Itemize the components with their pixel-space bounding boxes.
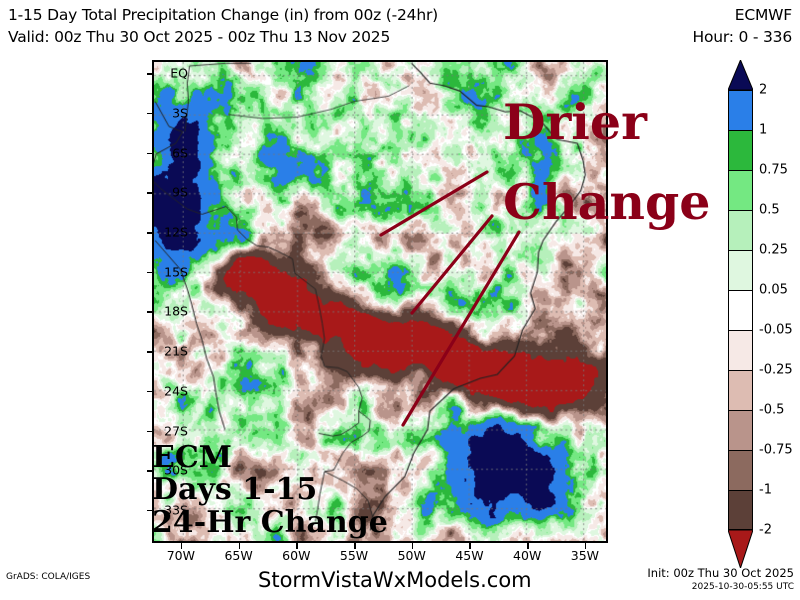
grads-credit: GrADS: COLA/IGES bbox=[6, 572, 90, 582]
x-axis-tick-mark bbox=[181, 543, 183, 549]
colorbar-tick-label: -0.75 bbox=[759, 443, 793, 458]
x-axis-tick-label: 60W bbox=[282, 548, 310, 563]
x-axis-tick-mark bbox=[354, 543, 356, 549]
colorbar-band bbox=[728, 370, 753, 410]
y-axis-tick-mark bbox=[147, 272, 152, 274]
colorbar-tick-label: -0.5 bbox=[759, 403, 784, 418]
colorbar-band bbox=[728, 90, 753, 130]
y-axis-tick-label: EQ bbox=[170, 66, 188, 81]
x-axis-tick-label: 70W bbox=[167, 548, 195, 563]
colorbar-tick-label: -2 bbox=[759, 523, 772, 538]
x-axis-tick-mark bbox=[469, 543, 471, 549]
x-axis-tick-label: 50W bbox=[398, 548, 426, 563]
site-watermark: StormVistaWxModels.com bbox=[258, 568, 532, 592]
colorbar-tick-label: -0.25 bbox=[759, 363, 793, 378]
y-axis-tick-mark bbox=[147, 153, 152, 155]
colorbar-tick-label: -1 bbox=[759, 483, 772, 498]
colorbar-tick-label: 0.75 bbox=[759, 163, 788, 178]
y-axis-tick-mark bbox=[147, 232, 152, 234]
map-header: 1-15 Day Total Precipitation Change (in)… bbox=[0, 0, 800, 52]
colorbar-top-cap bbox=[728, 60, 753, 90]
init-time-label: Init: 00z Thu 30 Oct 2025 bbox=[647, 566, 794, 580]
y-axis-tick-label: 12S bbox=[164, 225, 188, 240]
x-axis-tick-mark bbox=[585, 543, 587, 549]
annotation-model-ecm: ECM bbox=[152, 443, 232, 473]
annotation-days-range: Days 1-15 bbox=[152, 475, 317, 505]
forecast-hour-label: Hour: 0 - 336 bbox=[692, 28, 792, 46]
annotation-24hr-change: 24-Hr Change bbox=[152, 508, 388, 538]
model-name-label: ECMWF bbox=[735, 6, 792, 24]
x-axis-tick-label: 45W bbox=[455, 548, 483, 563]
colorbar-tick-label: 0.25 bbox=[759, 243, 788, 258]
y-axis-tick-label: 3S bbox=[172, 105, 188, 120]
y-axis-tick-label: 15S bbox=[164, 264, 188, 279]
y-axis-tick-label: 21S bbox=[164, 344, 188, 359]
y-axis-tick-label: 9S bbox=[172, 185, 188, 200]
colorbar-band bbox=[728, 450, 753, 490]
annotation-change: Change bbox=[503, 178, 710, 227]
generation-timestamp: 2025-10-30-05:55 UTC bbox=[692, 582, 794, 592]
y-axis-tick-label: 27S bbox=[164, 423, 188, 438]
x-axis-tick-label: 65W bbox=[224, 548, 252, 563]
colorbar: 210.750.50.250.05-0.05-0.25-0.5-0.75-1-2 bbox=[728, 90, 753, 530]
page-title: 1-15 Day Total Precipitation Change (in)… bbox=[8, 6, 438, 24]
colorbar-band bbox=[728, 330, 753, 370]
colorbar-tick-label: 0.05 bbox=[759, 283, 788, 298]
x-axis-tick-label: 35W bbox=[571, 548, 599, 563]
colorbar-band bbox=[728, 490, 753, 530]
y-axis-tick-label: 18S bbox=[164, 304, 188, 319]
colorbar-bottom-cap bbox=[728, 530, 753, 568]
y-axis-tick-mark bbox=[147, 391, 152, 393]
y-axis-tick-mark bbox=[147, 113, 152, 115]
annotation-drier: Drier bbox=[503, 98, 647, 147]
colorbar-tick-label: 2 bbox=[759, 83, 767, 98]
colorbar-band bbox=[728, 250, 753, 290]
x-axis-tick-mark bbox=[239, 543, 241, 549]
colorbar-band bbox=[728, 410, 753, 450]
y-axis-tick-mark bbox=[147, 351, 152, 353]
x-axis-tick-mark bbox=[412, 543, 414, 549]
y-axis-tick-mark bbox=[147, 431, 152, 433]
colorbar-band bbox=[728, 130, 753, 170]
colorbar-tick-label: 1 bbox=[759, 123, 767, 138]
colorbar-band bbox=[728, 290, 753, 330]
colorbar-tick-label: -0.05 bbox=[759, 323, 793, 338]
y-axis-tick-mark bbox=[147, 311, 152, 313]
x-axis-tick-mark bbox=[527, 543, 529, 549]
x-axis-tick-label: 40W bbox=[513, 548, 541, 563]
colorbar-band bbox=[728, 170, 753, 210]
weather-map-page: 1-15 Day Total Precipitation Change (in)… bbox=[0, 0, 800, 600]
colorbar-band bbox=[728, 210, 753, 250]
y-axis-tick-mark bbox=[147, 73, 152, 75]
x-axis-tick-label: 55W bbox=[340, 548, 368, 563]
y-axis-tick-label: 24S bbox=[164, 383, 188, 398]
y-axis-tick-label: 6S bbox=[172, 145, 188, 160]
x-axis-tick-mark bbox=[296, 543, 298, 549]
colorbar-tick-label: 0.5 bbox=[759, 203, 780, 218]
valid-time-label: Valid: 00z Thu 30 Oct 2025 - 00z Thu 13 … bbox=[8, 28, 390, 46]
y-axis-tick-mark bbox=[147, 192, 152, 194]
